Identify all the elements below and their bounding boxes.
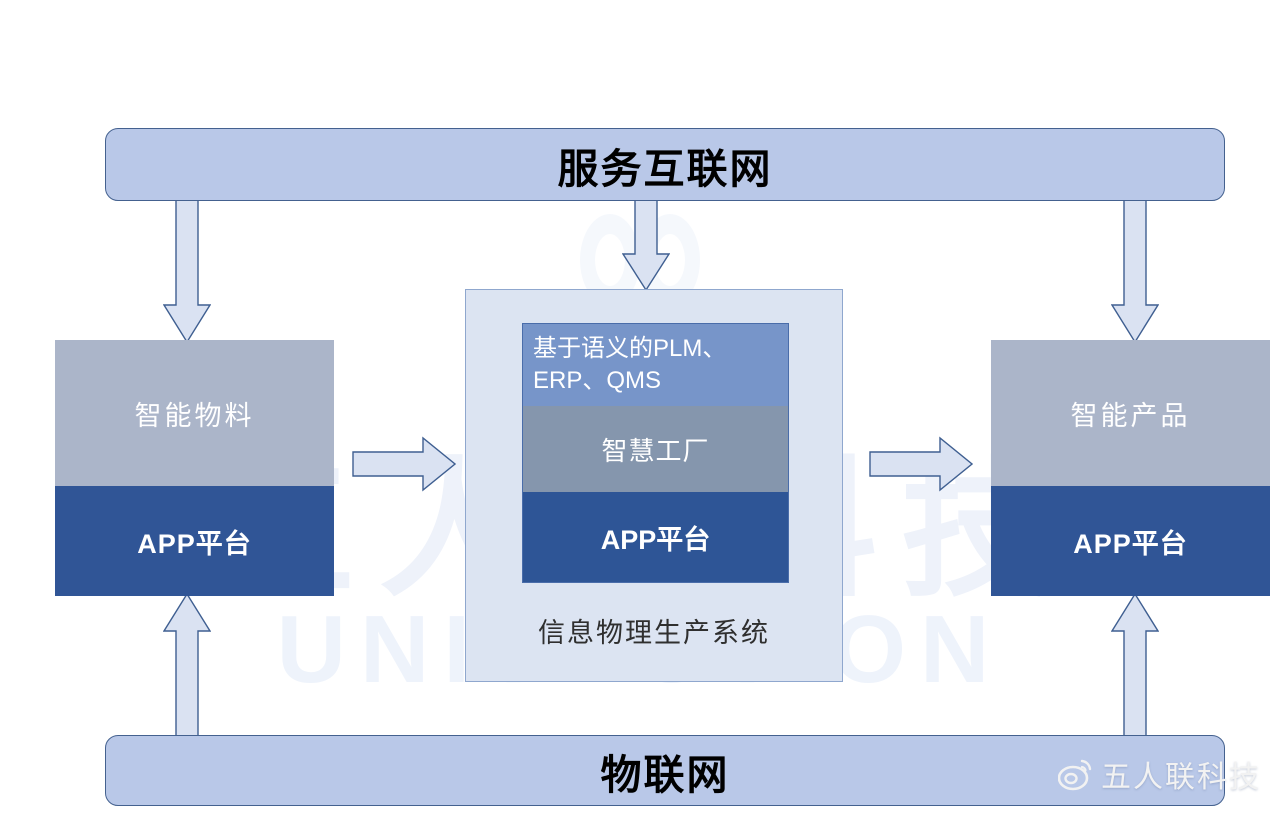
material-app-platform-band: APP平台 [55, 486, 334, 596]
panel-cyber-physical-production-system[interactable]: 基于语义的PLM、ERP、QMS 智慧工厂 APP平台 信息物理生产系统 [465, 289, 843, 682]
corner-watermark: 五人联科技 [1058, 752, 1261, 796]
box-smart-product[interactable]: 智能产品 APP平台 [991, 340, 1270, 596]
weibo-icon [1058, 757, 1094, 791]
smart-product-band: 智能产品 [991, 340, 1270, 486]
banner-bottom-label: 物联网 [601, 741, 730, 801]
corner-watermark-text: 五人联科技 [1101, 752, 1261, 796]
arrow-up-iot-to-product [1111, 594, 1159, 737]
cps-caption-label: 信息物理生产系统 [466, 611, 842, 650]
box-smart-material[interactable]: 智能物料 APP平台 [55, 340, 334, 596]
arrow-up-iot-to-material [163, 594, 211, 737]
arrow-right-material-to-cps [352, 436, 456, 492]
smart-material-label: 智能物料 [135, 394, 255, 433]
banner-top-label: 服务互联网 [558, 135, 773, 195]
arrow-right-cps-to-product [869, 436, 973, 492]
arrow-down-service-to-product [1111, 199, 1159, 343]
arrow-down-service-to-cps [622, 199, 670, 291]
banner-service-internet[interactable]: 服务互联网 [105, 128, 1225, 201]
diagram-canvas: 五人联科技 UNITECTION 服务互联网 物联网 智能物料 APP平台 智能… [0, 0, 1280, 813]
smart-product-label: 智能产品 [1071, 394, 1191, 433]
cps-band-semantic-plm-erp-qms: 基于语义的PLM、ERP、QMS [523, 324, 788, 406]
smart-material-band: 智能物料 [55, 340, 334, 486]
cps-factory-label: 智慧工厂 [601, 431, 709, 468]
banner-iot[interactable]: 物联网 [105, 735, 1225, 806]
cps-band-app-platform: APP平台 [523, 492, 788, 582]
cps-band-smart-factory: 智慧工厂 [523, 406, 788, 492]
cps-semantic-label: 基于语义的PLM、ERP、QMS [533, 333, 780, 398]
material-app-platform-label: APP平台 [137, 522, 252, 561]
cps-layer-stack: 基于语义的PLM、ERP、QMS 智慧工厂 APP平台 [522, 323, 789, 583]
cps-app-platform-label: APP平台 [601, 518, 711, 557]
product-app-platform-label: APP平台 [1073, 522, 1188, 561]
product-app-platform-band: APP平台 [991, 486, 1270, 596]
arrow-down-service-to-material [163, 199, 211, 343]
